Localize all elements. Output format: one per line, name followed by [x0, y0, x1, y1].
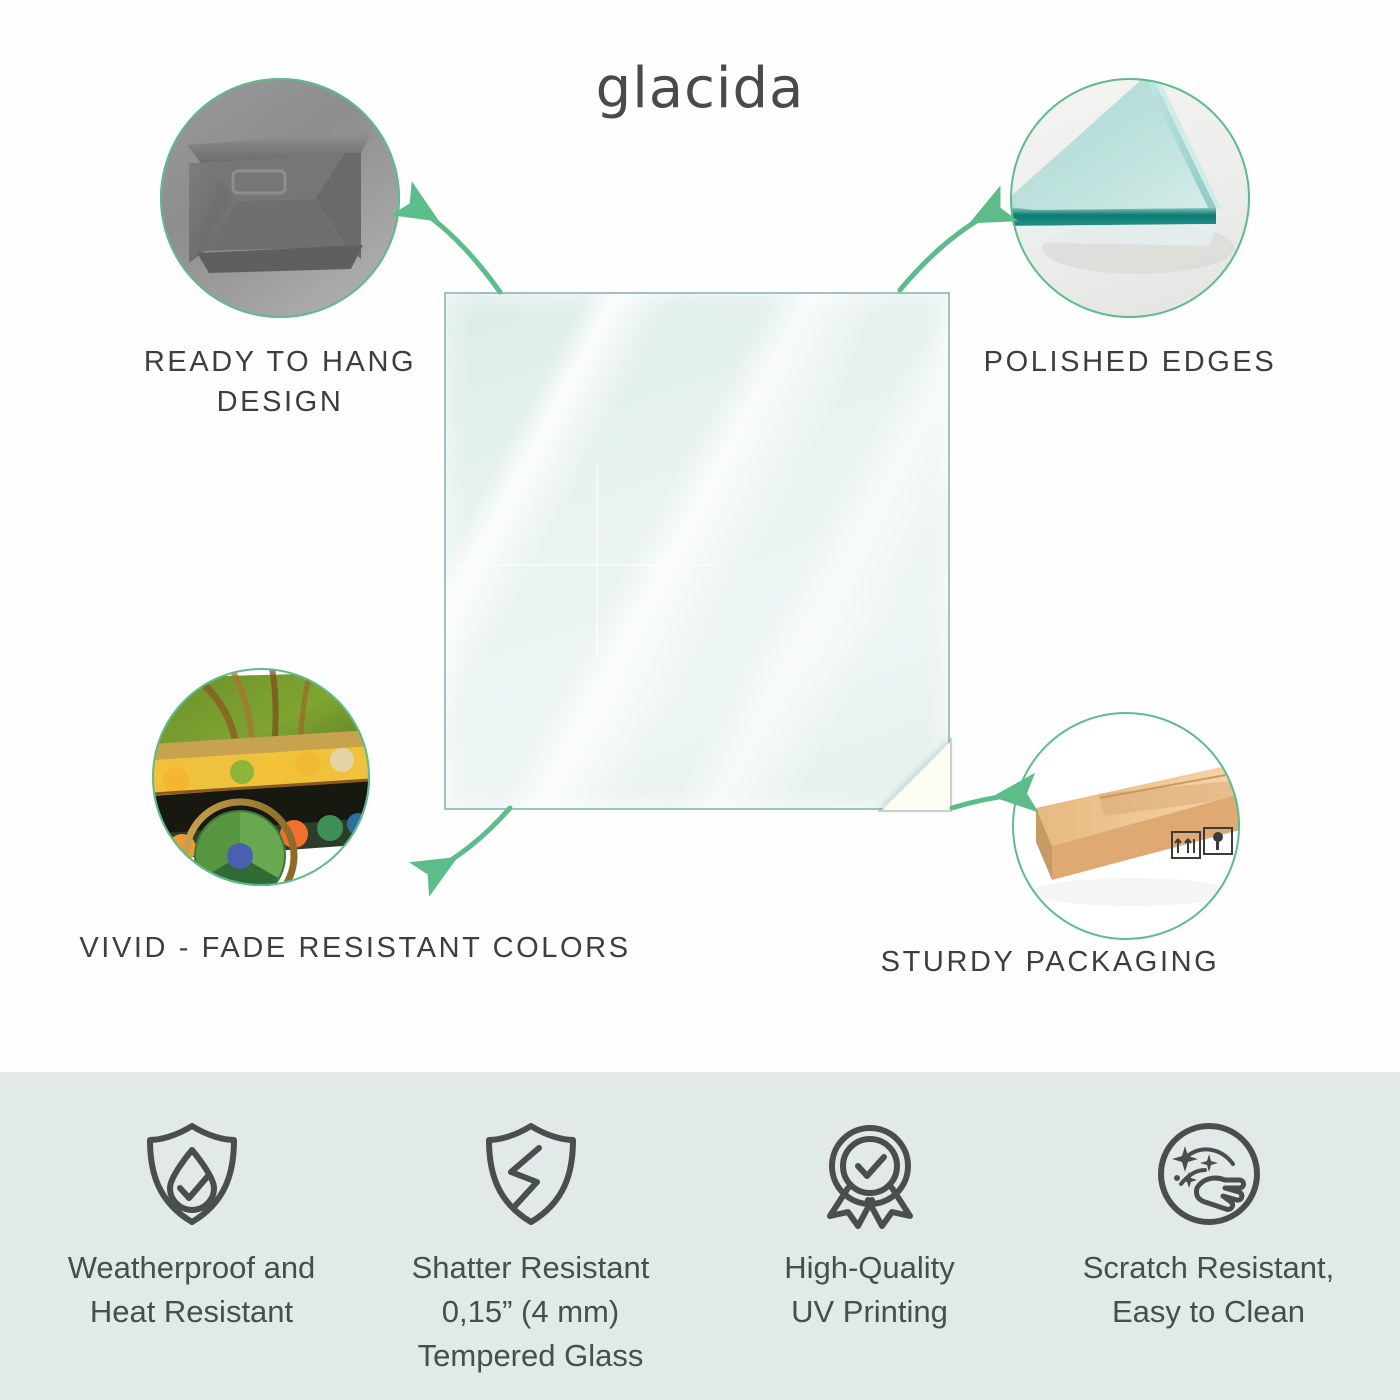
hanging-bracket-icon: [175, 123, 385, 283]
sparkle-hand-clean-icon: [1039, 1112, 1378, 1236]
cardboard-box-icon: [1012, 712, 1240, 940]
banner-text-line2: Easy to Clean: [1039, 1290, 1378, 1334]
shield-bolt-icon: [361, 1112, 700, 1236]
banner-text-line1: High-Quality: [700, 1246, 1039, 1290]
banner-item-weatherproof: Weatherproof and Heat Resistant: [22, 1112, 361, 1334]
glass-surface: [444, 292, 950, 810]
product-glass-panel: [444, 292, 950, 810]
glass-reflection-seam-horizontal: [454, 564, 714, 566]
banner-text-line2: 0,15” (4 mm): [361, 1290, 700, 1334]
banner-text-line2: Heat Resistant: [22, 1290, 361, 1334]
infographic-page: glacida READY TO HANG DESIGN: [0, 0, 1400, 1400]
stained-glass-art-icon: [152, 668, 370, 886]
award-check-icon: [700, 1112, 1039, 1236]
feature-image-ready-to-hang: [160, 78, 400, 318]
feature-image-sturdy-packaging: [1012, 712, 1240, 940]
banner-text-line1: Scratch Resistant,: [1039, 1246, 1378, 1290]
feature-label-vivid-colors: VIVID - FADE RESISTANT COLORS: [75, 928, 635, 968]
feature-label-sturdy-packaging: STURDY PACKAGING: [830, 942, 1270, 982]
banner-item-uv-printing: High-Quality UV Printing: [700, 1112, 1039, 1334]
banner-item-scratch-resistant: Scratch Resistant, Easy to Clean: [1039, 1112, 1378, 1334]
shield-droplet-check-icon: [22, 1112, 361, 1236]
arrow-to-vivid-colors: [432, 808, 510, 872]
bottom-feature-banner: Weatherproof and Heat Resistant Shatter …: [0, 1072, 1400, 1400]
feature-image-vivid-colors: [152, 668, 370, 886]
glass-corner-outline: [878, 738, 952, 812]
glass-reflection-seam-vertical: [596, 464, 598, 660]
feature-label-polished-edges: POLISHED EDGES: [930, 342, 1330, 382]
banner-text-line2: UV Printing: [700, 1290, 1039, 1334]
banner-text-line1: Weatherproof and: [22, 1246, 361, 1290]
banner-text-line1: Shatter Resistant: [361, 1246, 700, 1290]
glass-edge-icon: [1010, 78, 1250, 318]
banner-text-line3: Tempered Glass: [361, 1334, 700, 1378]
banner-item-shatter-resistant: Shatter Resistant 0,15” (4 mm) Tempered …: [361, 1112, 700, 1378]
arrow-to-polished-edges: [900, 210, 996, 290]
arrow-to-ready-to-hang: [414, 206, 500, 292]
arrow-to-sturdy-packaging: [952, 794, 1022, 808]
feature-image-polished-edges: [1010, 78, 1250, 318]
feature-label-ready-to-hang: READY TO HANG DESIGN: [80, 342, 480, 422]
